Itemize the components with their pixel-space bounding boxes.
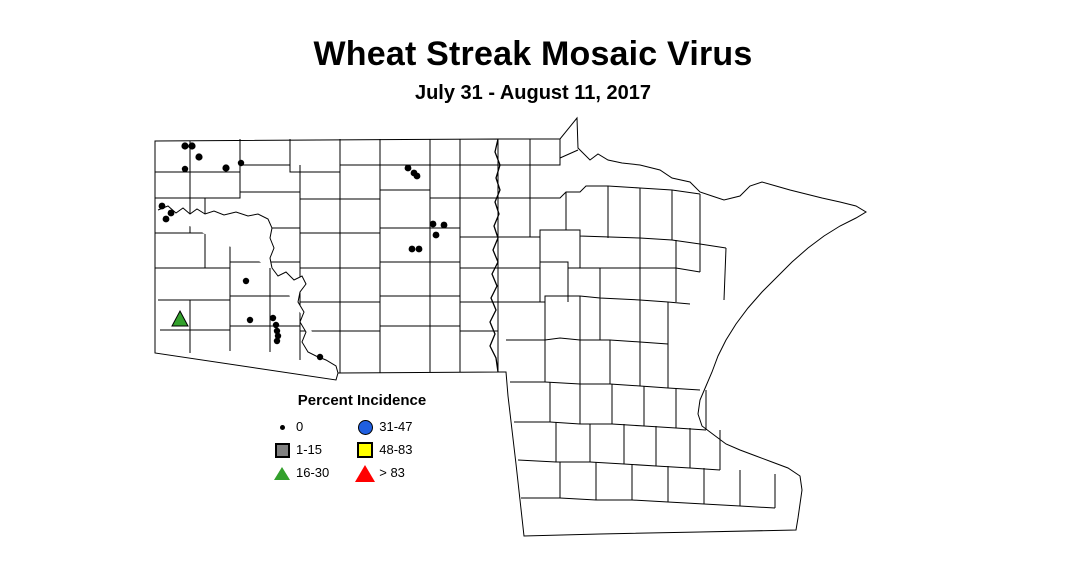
data-point xyxy=(274,338,280,344)
legend-item-31-47: 31-47 xyxy=(355,419,412,435)
gray-square-icon xyxy=(272,442,292,458)
data-point xyxy=(441,222,448,229)
legend-item-label: > 83 xyxy=(375,465,405,481)
legend-column-left: 0 1-15 16-30 xyxy=(272,419,329,481)
legend-column-right: 31-47 48-83 > 83 xyxy=(355,419,412,481)
legend-item-label: 0 xyxy=(292,419,303,435)
data-point xyxy=(222,164,229,171)
data-point xyxy=(414,173,421,180)
map-page: Wheat Streak Mosaic Virus July 31 - Augu… xyxy=(0,0,1066,565)
data-point xyxy=(168,210,175,217)
red-triangle-icon xyxy=(355,465,375,481)
legend-item-label: 31-47 xyxy=(375,419,412,435)
data-point xyxy=(430,221,437,228)
data-point xyxy=(181,142,188,149)
green-triangle-icon xyxy=(272,465,292,481)
data-point xyxy=(238,160,244,166)
minnesota-counties xyxy=(498,118,866,536)
data-point xyxy=(273,322,279,328)
data-point xyxy=(188,142,195,149)
legend-item-over-83: > 83 xyxy=(355,465,412,481)
legend-item-48-83: 48-83 xyxy=(355,442,412,458)
north-dakota-counties xyxy=(155,139,498,380)
data-point xyxy=(270,315,276,321)
data-point xyxy=(416,246,423,253)
blue-circle-icon xyxy=(355,419,375,435)
legend-title: Percent Incidence xyxy=(272,392,452,410)
data-point xyxy=(405,165,412,172)
legend-item-label: 16-30 xyxy=(292,465,329,481)
data-point xyxy=(409,246,416,253)
data-point xyxy=(182,166,188,172)
data-point xyxy=(243,278,249,284)
legend-item-1-15: 1-15 xyxy=(272,442,329,458)
legend-item-label: 48-83 xyxy=(375,442,412,458)
data-point xyxy=(159,203,166,210)
black-dot-icon xyxy=(272,419,292,435)
data-point xyxy=(163,216,170,223)
legend-item-16-30: 16-30 xyxy=(272,465,329,481)
data-point xyxy=(247,317,253,323)
legend: Percent Incidence 0 1-15 16-30 xyxy=(272,392,452,481)
legend-item-0: 0 xyxy=(272,419,329,435)
data-point xyxy=(195,153,202,160)
map-canvas xyxy=(0,0,1066,565)
legend-item-label: 1-15 xyxy=(292,442,322,458)
data-point xyxy=(317,354,323,360)
yellow-square-icon xyxy=(355,442,375,458)
legend-columns: 0 1-15 16-30 31-47 48-83 xyxy=(272,419,452,481)
data-point xyxy=(433,232,440,239)
